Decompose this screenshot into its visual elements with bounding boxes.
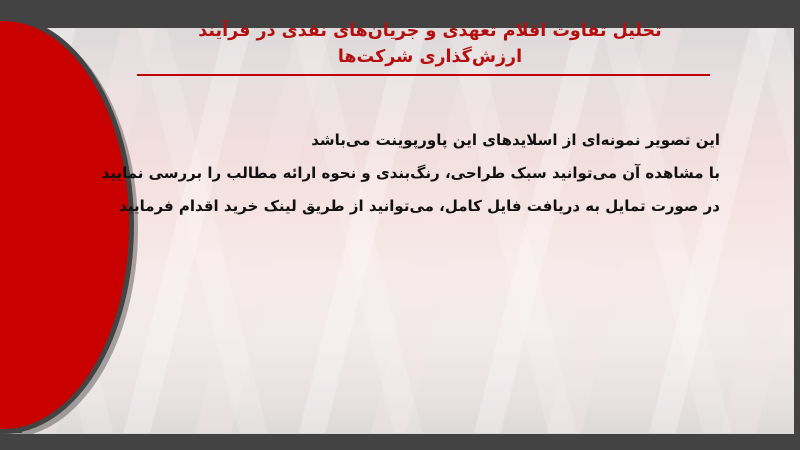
title-line-1: تحلیل تفاوت اقلام تعهدی و جریان‌های نقدی… (110, 18, 750, 44)
slide-content-panel (22, 28, 800, 433)
slide-frame-bottom (0, 433, 800, 450)
slide-body-text: این تصویر نمونه‌ای از اسلایدهای این پاور… (90, 124, 720, 223)
background-streaks-pattern (22, 28, 800, 433)
title-line-2: ارزش‌گذاری شرکت‌ها (110, 44, 750, 70)
slide-title: تحلیل تفاوت اقلام تعهدی و جریان‌های نقدی… (110, 18, 750, 70)
body-line-1: این تصویر نمونه‌ای از اسلایدهای این پاور… (90, 124, 720, 157)
slide-frame-right (794, 0, 800, 450)
background-streaks-pattern-secondary (22, 28, 800, 433)
title-underline-rule (137, 74, 710, 76)
body-line-3: در صورت تمایل به دریافت فایل کامل، می‌تو… (90, 190, 720, 223)
presentation-slide: تحلیل تفاوت اقلام تعهدی و جریان‌های نقدی… (0, 0, 800, 450)
body-line-2: با مشاهده آن می‌توانید سبک طراحی، رنگ‌بن… (90, 157, 720, 190)
